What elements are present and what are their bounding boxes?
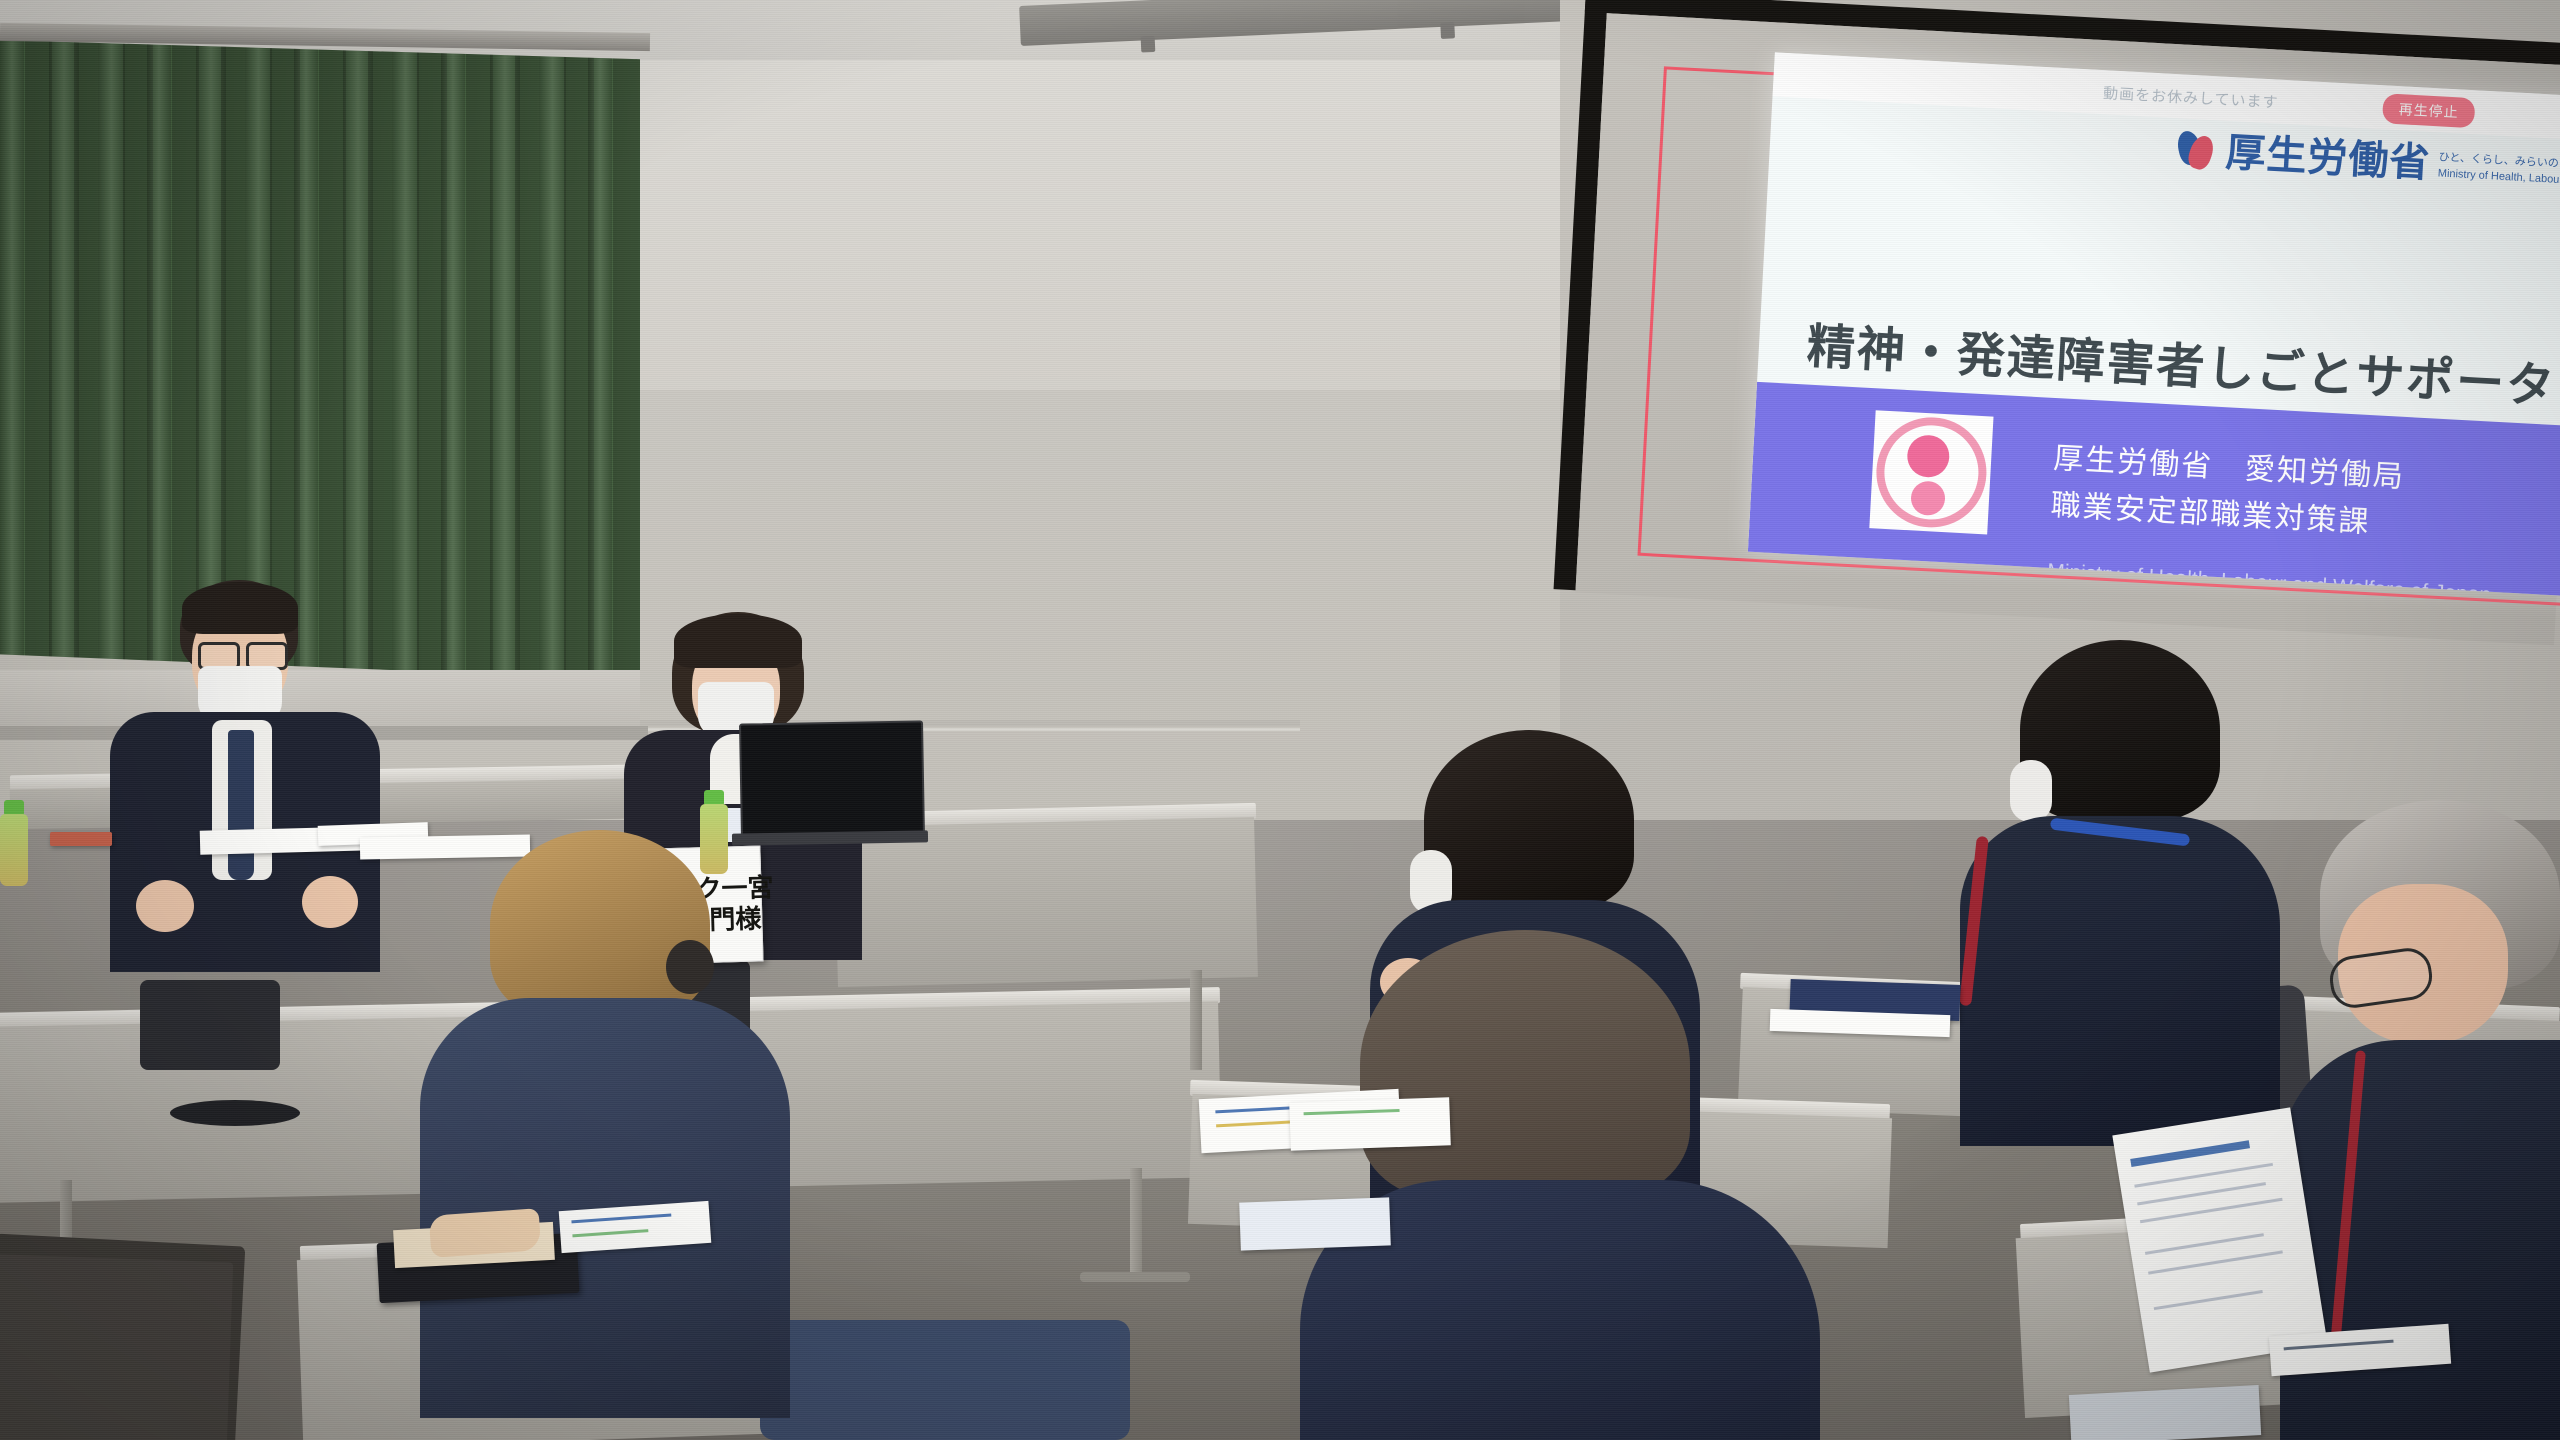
handout-held	[2112, 1107, 2327, 1372]
screen-surface: 動画をお休みしています 再生停止 厚生労働省 ひと、くらし、みらいのために Mi…	[1575, 13, 2560, 645]
second-desk-leg	[1190, 970, 1202, 1070]
window-curtain	[0, 40, 640, 680]
handout-desk-right-2	[1289, 1097, 1451, 1151]
curtain-fold	[319, 40, 346, 680]
attendee-front-hair	[1360, 930, 1690, 1200]
curtain-fold	[588, 40, 612, 680]
curtain-fold	[172, 40, 199, 680]
presentation-slide: 動画をお休みしています 再生停止 厚生労働省 ひと、くらし、みらいのために Mi…	[1748, 52, 2560, 599]
presenter-woman-fringe	[674, 614, 802, 668]
photo-scene: 動画をお休みしています 再生停止 厚生労働省 ひと、くらし、みらいのために Mi…	[0, 0, 2560, 1440]
mhlw-mark-icon	[2173, 126, 2219, 172]
folded-towel	[429, 1208, 542, 1258]
curtain-fold	[613, 40, 640, 680]
curtain-fold	[74, 40, 98, 680]
foreground-board	[0, 1254, 233, 1440]
wall-panel-upper	[560, 60, 1640, 390]
curtain-fold	[25, 40, 52, 680]
curtain-fold	[0, 40, 24, 680]
curtain-fold	[441, 40, 465, 680]
attendee-screenside-mask	[2010, 760, 2052, 822]
presenter-man-hand-left	[136, 880, 194, 932]
curtain-fold	[368, 40, 392, 680]
slide-credit: 厚生労働省 愛知労働局 職業安定部職業対策課	[2050, 436, 2407, 548]
head-desk-leg-right	[1130, 1168, 1142, 1278]
attendee-grey-jacket	[2280, 1040, 2560, 1440]
front-desk-handout-2	[1239, 1197, 1391, 1250]
desk-papers-left	[50, 832, 112, 846]
curtain-fold	[539, 40, 566, 680]
mhlw-logo-name: 厚生労働省	[2225, 133, 2432, 184]
projection-screen: 動画をお休みしています 再生停止 厚生労働省 ひと、くらし、みらいのために Mi…	[1552, 0, 2560, 663]
supporter-logo-icon	[1869, 410, 1993, 534]
attendee-blond-hair	[490, 830, 710, 1020]
far-right-desk-notebook	[2069, 1385, 2261, 1440]
curtain-fold	[515, 40, 539, 680]
attendee-center-hair	[1424, 730, 1634, 910]
mhlw-logo: 厚生労働省 ひと、くらし、みらいのために Ministry of Health,…	[2173, 126, 2560, 194]
presenter-man-fringe	[182, 582, 298, 634]
slide-pause-badge: 再生停止	[2382, 93, 2475, 128]
curtain-fold	[294, 40, 318, 680]
presenter-man-tie	[228, 730, 254, 880]
attendee-blond-mask-strap	[666, 940, 714, 994]
curtain-fold	[98, 40, 125, 680]
curtain-fold	[147, 40, 171, 680]
curtain-fold	[466, 40, 493, 680]
curtain-fold	[392, 40, 419, 680]
head-desk-foot	[1080, 1272, 1190, 1282]
attendee-screenside-jacket	[1960, 816, 2280, 1146]
desk-papers-bookopen	[360, 835, 530, 860]
laptop-screen	[739, 720, 925, 839]
presenter-man-hand-right	[302, 876, 358, 928]
